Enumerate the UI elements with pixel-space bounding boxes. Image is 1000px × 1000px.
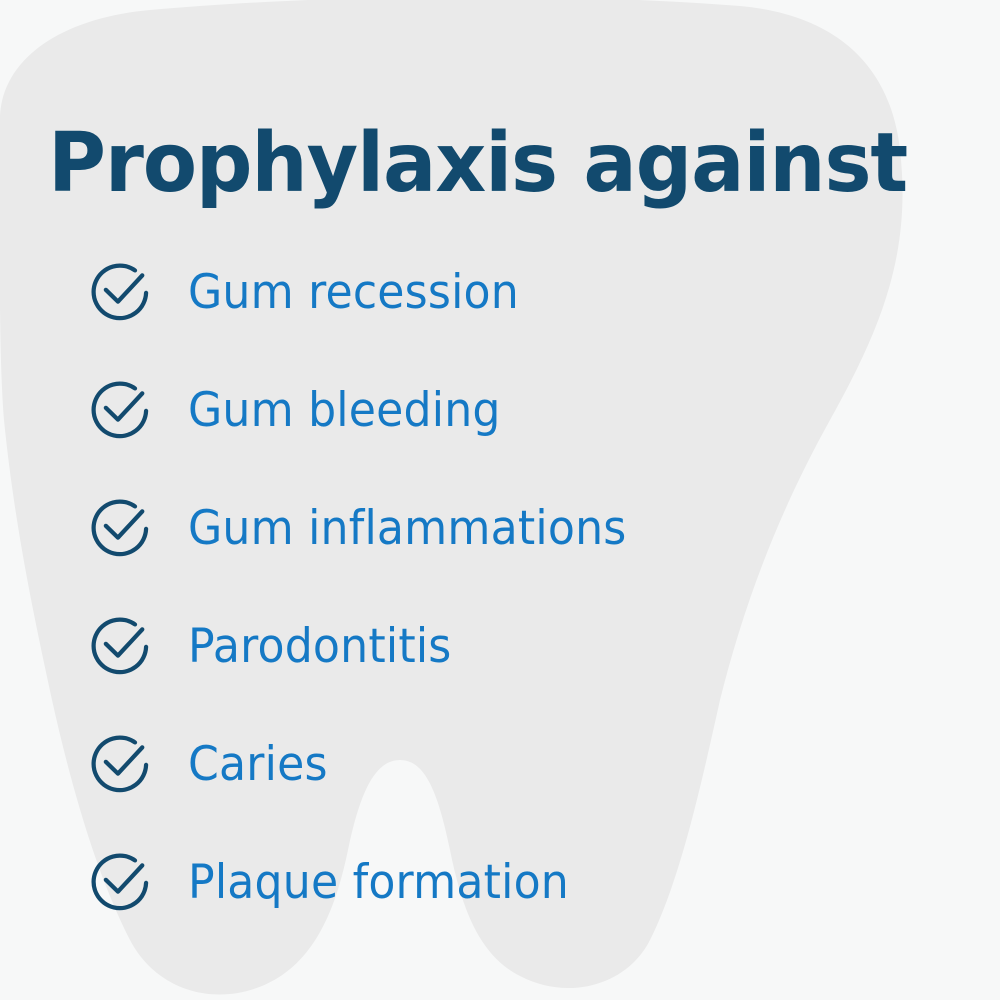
check-circle-icon [86,493,156,563]
check-circle-icon [86,847,156,917]
list-item-label: Parodontitis [188,623,452,670]
list-item-label: Gum inflammations [188,505,626,552]
check-circle-icon [86,611,156,681]
list-item-label: Plaque formation [188,859,569,906]
list-item: Caries [0,705,1000,823]
list-item-label: Caries [188,741,328,788]
check-circle-icon [86,375,156,445]
list-item: Gum bleeding [0,351,1000,469]
list-item: Gum inflammations [0,469,1000,587]
list-item-label: Gum recession [188,269,519,316]
list-item: Parodontitis [0,587,1000,705]
infographic-canvas: Prophylaxis against Gum recession Gum bl… [0,0,1000,1000]
check-circle-icon [86,729,156,799]
list-item: Plaque formation [0,823,1000,941]
list-item: Gum recession [0,233,1000,351]
benefit-list: Gum recession Gum bleeding Gum inflammat… [0,233,1000,941]
check-circle-icon [86,257,156,327]
list-item-label: Gum bleeding [188,387,501,434]
page-title: Prophylaxis against [48,123,945,205]
